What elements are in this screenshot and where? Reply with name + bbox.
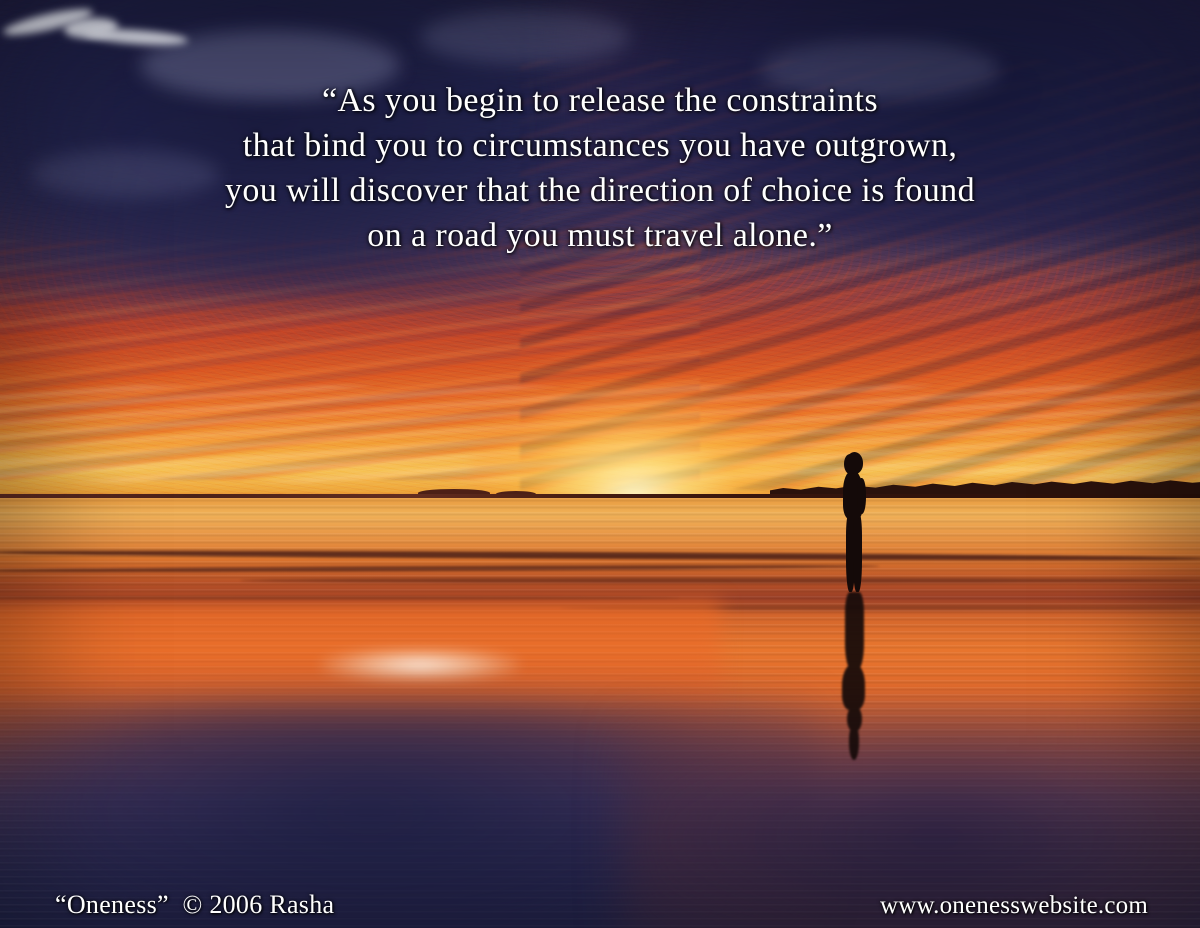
person-reflection bbox=[832, 592, 872, 762]
cloud-wisp bbox=[420, 10, 630, 64]
cloud-wisp bbox=[30, 150, 220, 198]
standing-person-silhouette bbox=[832, 452, 872, 592]
dark-cloud-mass-right bbox=[560, 0, 1200, 250]
copyright-credit: “Oneness” © 2006 Rasha bbox=[55, 890, 334, 920]
water-highlight bbox=[320, 648, 520, 682]
quote-poster-image: “As you begin to release the constraints… bbox=[0, 0, 1200, 928]
website-url: www.onenesswebsite.com bbox=[880, 892, 1148, 920]
cloud-wisp bbox=[760, 40, 1000, 100]
wave-line bbox=[240, 578, 1200, 583]
